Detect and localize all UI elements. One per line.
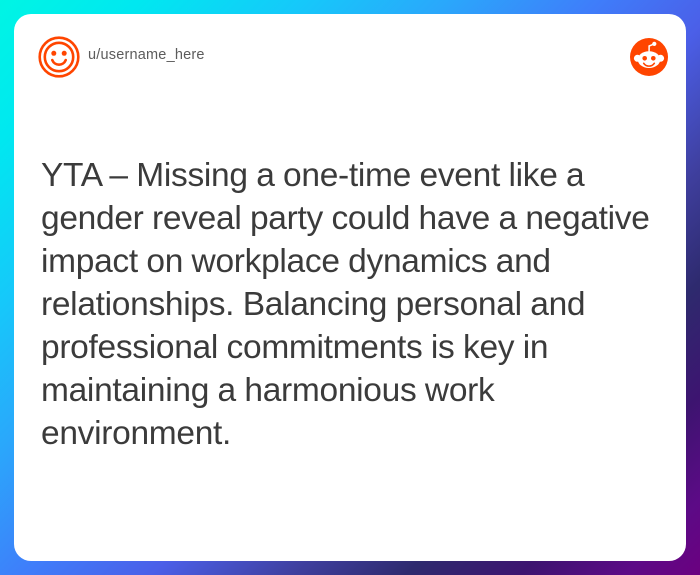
gradient-border-frame: u/username_here xyxy=(0,0,700,575)
post-card: u/username_here xyxy=(14,14,686,561)
reddit-snoo-icon[interactable] xyxy=(630,38,668,76)
username-label[interactable]: u/username_here xyxy=(88,47,205,63)
smiley-face-icon[interactable] xyxy=(38,36,80,78)
post-header: u/username_here xyxy=(14,14,686,114)
post-body-text: YTA – Missing a one-time event like a ge… xyxy=(41,154,661,455)
